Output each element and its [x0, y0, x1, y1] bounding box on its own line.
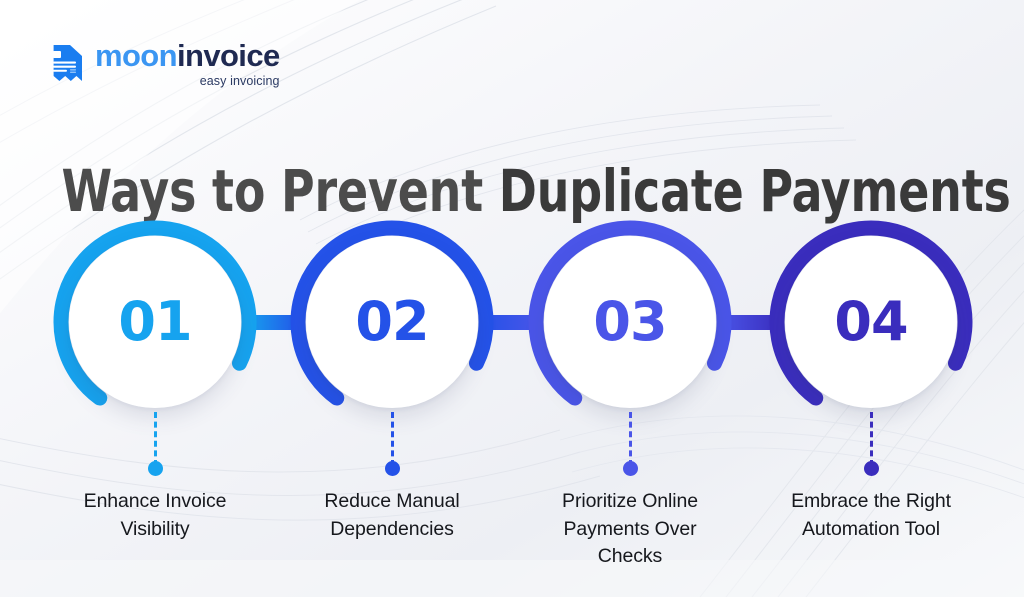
step-circle-03[interactable]: 03 [544, 236, 716, 408]
step-leader-dot [385, 461, 400, 476]
step-connector [720, 315, 781, 330]
step-circle-02[interactable]: 02 [306, 236, 478, 408]
step-leader-line [154, 412, 157, 466]
step-circle-04[interactable]: 04 [785, 236, 957, 408]
step-caption-line: Payments Over [505, 516, 755, 544]
step-number: 02 [355, 295, 428, 349]
step-leader-dot [864, 461, 879, 476]
step-connector [482, 315, 540, 330]
steps-row: 01Enhance InvoiceVisibility02Reduce Manu… [0, 0, 1024, 597]
step-leader-line [870, 412, 873, 466]
step-number: 04 [834, 295, 907, 349]
step-number: 01 [118, 295, 191, 349]
step-circle-01[interactable]: 01 [69, 236, 241, 408]
step-caption: Enhance InvoiceVisibility [30, 488, 280, 543]
step-caption-line: Prioritize Online [505, 488, 755, 516]
step-caption-line: Dependencies [267, 516, 517, 544]
step-caption: Reduce ManualDependencies [267, 488, 517, 543]
step-number: 03 [593, 295, 666, 349]
step-connector [245, 315, 302, 330]
step-caption: Embrace the RightAutomation Tool [746, 488, 996, 543]
step-caption-line: Enhance Invoice [30, 488, 280, 516]
step-caption: Prioritize OnlinePayments OverChecks [505, 488, 755, 571]
step-leader-dot [623, 461, 638, 476]
step-leader-dot [148, 461, 163, 476]
step-caption-line: Visibility [30, 516, 280, 544]
step-leader-line [391, 412, 394, 466]
step-leader-line [629, 412, 632, 466]
step-caption-line: Automation Tool [746, 516, 996, 544]
step-caption-line: Reduce Manual [267, 488, 517, 516]
infographic-canvas: mooninvoice easy invoicing Ways to Preve… [0, 0, 1024, 597]
step-caption-line: Embrace the Right [746, 488, 996, 516]
step-caption-line: Checks [505, 543, 755, 571]
